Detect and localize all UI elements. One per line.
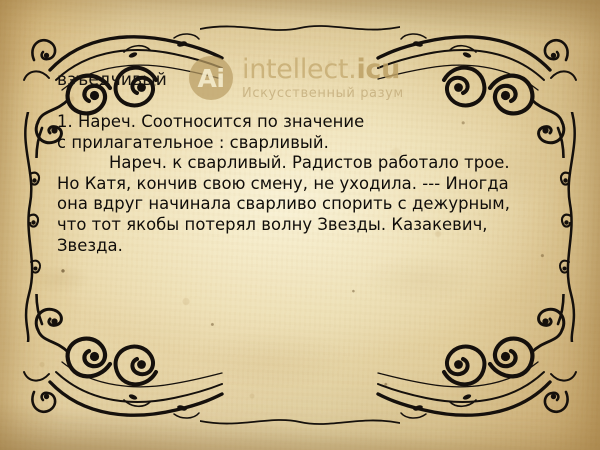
parchment-page: Ai intellect.icu Искусственный разум взъ… [0, 0, 600, 450]
entry-body: 1. Нареч. Соотносится по значение с прил… [57, 112, 557, 256]
headword: взъедчивый [57, 70, 167, 90]
entry-line: она вдруг начинала сварливо спорить с де… [57, 194, 557, 215]
entry-line: с прилагательное : сварливый. [57, 133, 557, 154]
entry-line: Звезда. [57, 236, 557, 257]
entry-line: 1. Нареч. Соотносится по значение [57, 112, 557, 133]
entry-line: что тот якобы потерял волну Звезды. Каза… [57, 215, 557, 236]
entry-line: Но Катя, кончив свою смену, не уходила. … [57, 174, 557, 195]
entry-line: Нареч. к сварливый. Радистов работало тр… [57, 153, 557, 174]
